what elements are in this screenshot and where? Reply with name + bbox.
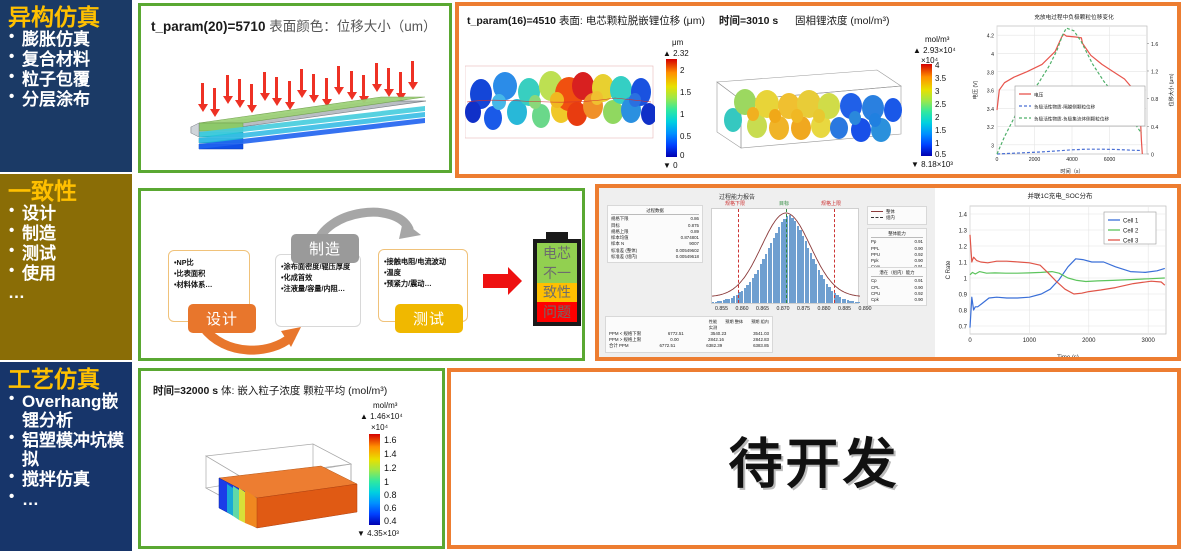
stage-design-pill[interactable]: 设计 (188, 304, 256, 333)
svg-text:0.4: 0.4 (1151, 125, 1158, 131)
lithium-conc-caption-param: 时间=3010 s (719, 13, 778, 28)
svg-text:0: 0 (1151, 153, 1154, 159)
sidebar-section-list: Overhang嵌锂分析 铝塑模冲坑模拟 搅拌仿真 … (6, 392, 128, 509)
sidebar-item-more[interactable]: … (6, 490, 128, 509)
pd-caption-param: t_param(16)=4510 (467, 15, 556, 27)
chart-ylabel: 电压 (V) (971, 80, 979, 99)
ic-colorbar-scale: ×10⁴ (371, 423, 388, 432)
sidebar-section-title: 一致性 (8, 179, 128, 203)
lc-colorbar-unit: mol/m³ (925, 35, 949, 44)
pd-colorbar-ticks: 2 1.5 1 0.5 0 (680, 59, 710, 157)
legend-label: 电压 (1034, 91, 1044, 98)
lc-colorbar-min: ▼ 8.18×10³ (911, 160, 953, 169)
stage-test-pill[interactable]: 测试 (395, 304, 463, 333)
svg-text:2000: 2000 (1082, 338, 1096, 344)
target-label: 目标 (779, 200, 789, 207)
svg-text:0.9: 0.9 (959, 293, 968, 299)
manufacture-detail-box: •涂布面密度/辊压厚度 •化成首效 •注液量/容量/内阻… (275, 254, 361, 327)
intercalation-caption-desc: 体: 嵌入粒子浓度 颗粒平均 (mol/m³) (221, 383, 387, 398)
sidebar-item-composite-material[interactable]: 复合材料 (6, 50, 128, 69)
histogram-xtick: 0.885 (838, 306, 851, 312)
battery-result-graphic: 电芯 不一 致性 问题 (533, 239, 581, 326)
sidebar-item-pouch-pit-sim[interactable]: 铝塑模冲坑模拟 (6, 431, 128, 469)
svg-text:3.8: 3.8 (987, 70, 994, 76)
svg-text:0.8: 0.8 (1151, 97, 1158, 103)
chart-ylabel: C Rate (946, 260, 952, 279)
chart-legend: Cell 1Cell 2Cell 3 (1104, 212, 1156, 244)
sidebar-section-title: 工艺仿真 (8, 367, 128, 391)
battery-cell-2: 致性 (537, 283, 577, 303)
layered-stack-graphic (181, 61, 431, 156)
legend-swatch-overall (871, 211, 883, 212)
svg-text:6000: 6000 (1104, 157, 1116, 163)
sidebar-section-process-simulation[interactable]: 工艺仿真 Overhang嵌锂分析 铝塑模冲坑模拟 搅拌仿真 … (0, 362, 132, 551)
legend-label: Cell 2 (1123, 228, 1139, 234)
battery-cell-0: 电芯 (537, 243, 577, 263)
panel-intercalation[interactable]: 时间=32000 s 体: 嵌入粒子浓度 颗粒平均 (mol/m³) mol/m… (138, 368, 445, 549)
chart-parallel-1c-soc[interactable]: 0.70.80.911.11.21.31.40100020003000并联1C充… (944, 190, 1176, 357)
chart-charge-discharge-displacement[interactable]: 33.23.43.63.844.2020004000600000.40.81.2… (971, 12, 1177, 174)
pd-colorbar (666, 59, 677, 157)
legend-label: 负极活性物质-负极集流体侧颗粒位移 (1034, 115, 1109, 122)
lithium-conc-caption-desc: 固相锂浓度 (mol/m³) (795, 13, 890, 28)
panel-intercalation-inner: 时间=32000 s 体: 嵌入粒子浓度 颗粒平均 (mol/m³) mol/m… (141, 371, 442, 546)
svg-text:4000: 4000 (1066, 157, 1078, 163)
normal-curve (712, 209, 860, 305)
chart-svg: 0.70.80.911.11.21.31.40100020003000并联1C充… (944, 190, 1176, 357)
sidebar-section-consistency[interactable]: 一致性 设计 制造 测试 使用 … (0, 174, 132, 360)
panel-stats-inner: 过程能力报告 过程数据 规格下限0.86 目标0.875 规格上限0.89 样本… (599, 188, 1177, 357)
sidebar-item-usage[interactable]: 使用 (6, 264, 128, 283)
panel-consistency-stats[interactable]: 过程能力报告 过程数据 规格下限0.86 目标0.875 规格上限0.89 样本… (595, 184, 1181, 361)
svg-text:0.8: 0.8 (959, 309, 968, 315)
panel-expansion-inner: t_param(20)=5710 表面颜色：位移大小（um） (141, 6, 449, 170)
chart-y2label: 位移大小 (μm) (1167, 73, 1175, 106)
panel-consistency-flow[interactable]: •NP比 •比表面积 •材料体系… •涂布面密度/辊压厚度 •化成首效 •注液量… (138, 188, 585, 361)
pd-colorbar-max: ▲ 2.32 (663, 49, 689, 58)
svg-text:3.2: 3.2 (987, 125, 994, 131)
battery-cell-3: 问题 (537, 302, 577, 322)
chart-xlabel: 时间（s） (1060, 167, 1083, 174)
lc-colorbar (921, 64, 932, 156)
ppm-col-within-header: 预期 组内 (751, 319, 769, 331)
svg-text:3: 3 (991, 143, 994, 149)
svg-text:1.6: 1.6 (1151, 42, 1158, 48)
battery-cell-1: 不一 (537, 263, 577, 283)
sidebar-item-manufacture[interactable]: 制造 (6, 224, 128, 243)
sidebar-item-design[interactable]: 设计 (6, 204, 128, 223)
histogram-xtick: 0.880 (818, 306, 831, 312)
chart-xlabel: Time (s) (1057, 355, 1079, 357)
ppm-col-overall-header: 预期 整体 (725, 319, 743, 331)
histogram-xtick: 0.860 (736, 306, 749, 312)
usl-label: 规格上限 (821, 200, 841, 207)
process-data-header: 过程数据 (611, 208, 699, 215)
svg-text:1.2: 1.2 (959, 245, 968, 251)
within-capability-card: 潜在（组内）能力 Cp0.91 CPL0.90 CPU0.92 Cpk0.90 (867, 267, 927, 306)
legend-label: Cell 3 (1123, 238, 1139, 244)
expansion-caption-desc: 表面颜色：位移大小（um） (269, 19, 436, 34)
expansion-caption-param: t_param(20)=5710 (151, 19, 265, 34)
result-arrow (483, 274, 509, 288)
sidebar-section-list: 设计 制造 测试 使用 (6, 204, 128, 283)
capability-report-background[interactable]: 过程能力报告 过程数据 规格下限0.86 目标0.875 规格上限0.89 样本… (599, 188, 935, 357)
ic-colorbar-ticks: 1.6 1.4 1.2 1 0.8 0.6 0.4 (384, 434, 414, 525)
panel-todo[interactable]: 待开发 (447, 368, 1181, 549)
svg-text:0.7: 0.7 (959, 325, 968, 331)
sidebar-item-expansion-sim[interactable]: 膨胀仿真 (6, 30, 128, 49)
ppm-table: 性能 实测 预期 整体 预期 组内 PPM < 规格下限 6772.51 354… (605, 316, 773, 353)
svg-text:1.2: 1.2 (1151, 70, 1158, 76)
sidebar-item-layered-coating[interactable]: 分层涂布 (6, 90, 128, 109)
sidebar-item-test[interactable]: 测试 (6, 244, 128, 263)
svg-text:1.4: 1.4 (959, 213, 968, 219)
histogram-xtick: 0.875 (797, 306, 810, 312)
svg-text:3000: 3000 (1142, 338, 1156, 344)
chart-svg: 33.23.43.63.844.2020004000600000.40.81.2… (971, 12, 1177, 174)
ic-colorbar (369, 434, 380, 525)
pd-caption-desc: 表面: 电芯颗粒脱嵌锂位移 (μm) (559, 15, 705, 27)
lithium-concentration-3d (709, 48, 909, 166)
ic-colorbar-unit: mol/m³ (373, 401, 397, 410)
sidebar: 异构仿真 膨胀仿真 复合材料 粒子包覆 分层涂布 一致性 设计 制造 测试 使用… (0, 0, 132, 551)
stage-manufacture-pill[interactable]: 制造 (291, 234, 359, 263)
panel-expansion-simulation[interactable]: t_param(20)=5710 表面颜色：位移大小（um） (138, 3, 452, 173)
stack-layers-svg (181, 61, 431, 156)
svg-text:1: 1 (964, 277, 968, 283)
legend-label: Cell 1 (1123, 218, 1139, 224)
process-data-card: 过程数据 规格下限0.86 目标0.875 规格上限0.89 样本均值0.874… (607, 205, 703, 263)
particle-displacement-caption: t_param(16)=4510 表面: 电芯颗粒脱嵌锂位移 (μm) (467, 13, 705, 28)
panel-particle-inner: t_param(16)=4510 表面: 电芯颗粒脱嵌锂位移 (μm) (459, 6, 1177, 174)
histogram-xtick: 0.870 (777, 306, 790, 312)
pd-colorbar-min: ▼ 0 (663, 161, 678, 170)
slide-root: 异构仿真 膨胀仿真 复合材料 粒子包覆 分层涂布 一致性 设计 制造 测试 使用… (0, 0, 1183, 551)
todo-label: 待开发 (451, 419, 1177, 498)
svg-text:3.4: 3.4 (987, 107, 994, 113)
intercalation-caption-param: 时间=32000 s (153, 383, 218, 398)
sidebar-section-heterogeneous-simulation[interactable]: 异构仿真 膨胀仿真 复合材料 粒子包覆 分层涂布 (0, 0, 132, 172)
capability-legend: 整体 组内 (867, 206, 927, 225)
histogram-xtick: 0.890 (859, 306, 872, 312)
svg-text:0: 0 (996, 157, 999, 163)
sidebar-section-ellipsis: … (8, 283, 128, 303)
ic-colorbar-min: ▼ 4.35×10³ (357, 529, 399, 538)
panel-todo-inner: 待开发 (451, 372, 1177, 545)
svg-text:4.2: 4.2 (987, 34, 994, 40)
histogram-xtick: 0.865 (756, 306, 769, 312)
expansion-caption: t_param(20)=5710 表面颜色：位移大小（um） (151, 15, 436, 35)
lsl-label: 规格下限 (725, 200, 745, 207)
svg-text:1.1: 1.1 (959, 261, 968, 267)
svg-text:4: 4 (991, 52, 994, 58)
lc-colorbar-max: ▲ 2.93×10⁴ (913, 46, 956, 55)
ic-colorbar-max: ▲ 1.46×10⁴ (360, 412, 403, 421)
intercalation-3d-block (161, 416, 361, 536)
chart-title: 并联1C充电_SOC分布 (1027, 191, 1093, 200)
panel-flow-inner: •NP比 •比表面积 •材料体系… •涂布面密度/辊压厚度 •化成首效 •注液量… (141, 191, 582, 358)
lc-colorbar-ticks: 4 3.5 3 2.5 2 1.5 1 0.5 (935, 64, 965, 156)
svg-text:0: 0 (968, 338, 972, 344)
sidebar-section-title: 异构仿真 (8, 5, 128, 29)
legend-swatch-within (871, 217, 883, 221)
ppm-col-observed-header: 性能 实测 (709, 319, 717, 331)
histogram-xtick: 0.855 (715, 306, 728, 312)
particle-electrode-3d (465, 46, 655, 161)
sidebar-item-particle-coating[interactable]: 粒子包覆 (6, 70, 128, 89)
legend-label: 负极活性物质-隔膜侧颗粒位移 (1034, 103, 1096, 110)
sidebar-item-overhang-analysis[interactable]: Overhang嵌锂分析 (6, 392, 128, 430)
svg-text:2000: 2000 (1029, 157, 1041, 163)
sidebar-section-list: 膨胀仿真 复合材料 粒子包覆 分层涂布 (6, 30, 128, 109)
panel-particle-and-charts[interactable]: t_param(16)=4510 表面: 电芯颗粒脱嵌锂位移 (μm) (455, 2, 1181, 178)
svg-text:3.6: 3.6 (987, 89, 994, 95)
chart-legend: 电压负极活性物质-隔膜侧颗粒位移负极活性物质-负极集流体侧颗粒位移 (1015, 86, 1145, 126)
chart-title: 充放电过程中负极颗粒位移变化 (1034, 13, 1114, 21)
ppm-row: 合计 PPM 6772.51 6382.39 6383.85 (609, 343, 769, 349)
sidebar-item-mixing-sim[interactable]: 搅拌仿真 (6, 470, 128, 489)
svg-text:1000: 1000 (1023, 338, 1037, 344)
svg-text:1.3: 1.3 (959, 229, 968, 235)
capability-histogram[interactable] (711, 208, 859, 304)
pd-colorbar-unit: μm (672, 38, 683, 47)
